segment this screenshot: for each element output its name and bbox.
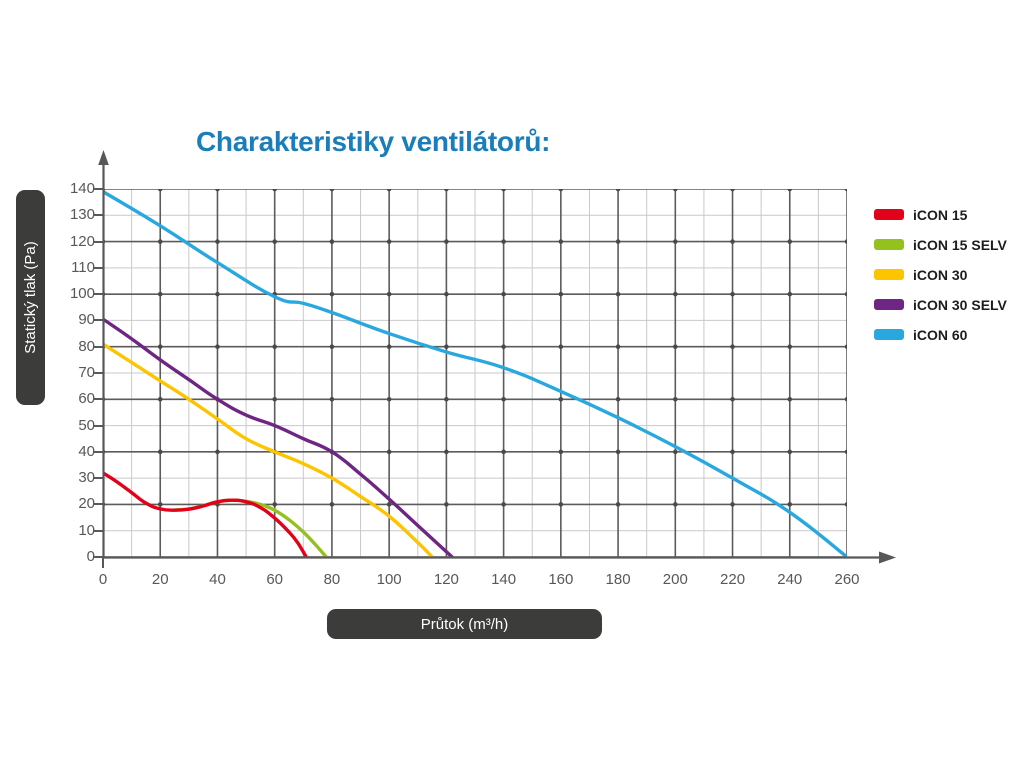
legend-item[interactable]: iCON 60 (874, 320, 1024, 349)
y-tick-mark (94, 214, 104, 216)
y-tick-label: 120 (51, 234, 95, 249)
legend: iCON 15iCON 15 SELViCON 30iCON 30 SELViC… (874, 200, 1024, 350)
y-tick-label: 60 (51, 391, 95, 406)
y-tick-label: 20 (51, 496, 95, 511)
y-tick-mark (94, 425, 104, 427)
y-tick-label: 130 (51, 207, 95, 222)
x-tick-label: 80 (307, 572, 357, 587)
x-tick-label: 240 (765, 572, 815, 587)
x-tick-label: 220 (708, 572, 758, 587)
x-tick-label: 100 (364, 572, 414, 587)
plot-area (103, 189, 847, 557)
y-tick-mark (94, 503, 104, 505)
y-tick-mark (94, 451, 104, 453)
y-tick-label: 40 (51, 444, 95, 459)
y-tick-label: 0 (51, 549, 95, 564)
x-tick-label: 20 (135, 572, 185, 587)
legend-item-label: iCON 30 SELV (913, 297, 1007, 313)
legend-item-label: iCON 15 SELV (913, 237, 1007, 253)
y-tick-label: 90 (51, 312, 95, 327)
series-line-icon-30 (103, 344, 432, 557)
y-tick-label: 100 (51, 286, 95, 301)
y-tick-mark (94, 319, 104, 321)
chart-canvas: Charakteristiky ventilátorů: Statický tl… (0, 0, 1024, 768)
legend-item[interactable]: iCON 15 (874, 200, 1024, 229)
y-tick-mark (94, 241, 104, 243)
y-tick-mark (94, 372, 104, 374)
legend-item[interactable]: iCON 15 SELV (874, 230, 1024, 259)
x-tick-label: 180 (593, 572, 643, 587)
x-tick-label: 200 (650, 572, 700, 587)
x-tick-label: 40 (192, 572, 242, 587)
y-tick-label: 70 (51, 365, 95, 380)
y-tick-mark (94, 346, 104, 348)
series-line-icon-15 (103, 473, 306, 557)
grid-and-series (103, 189, 847, 557)
x-tick-label: 140 (479, 572, 529, 587)
y-tick-mark (94, 267, 104, 269)
y-tick-mark (94, 530, 104, 532)
y-tick-label: 50 (51, 418, 95, 433)
y-tick-mark (94, 293, 104, 295)
x-axis-arrowhead (879, 552, 896, 564)
y-tick-label: 80 (51, 339, 95, 354)
x-axis-label: Průtok (m³/h) (327, 609, 602, 639)
y-tick-mark (94, 188, 104, 190)
y-axis-arrowhead (98, 150, 109, 165)
x-tick-mark (102, 557, 104, 568)
legend-item[interactable]: iCON 30 SELV (874, 290, 1024, 319)
y-tick-mark (94, 477, 104, 479)
legend-item-label: iCON 60 (913, 327, 967, 343)
page-title: Charakteristiky ventilátorů: (196, 126, 550, 158)
legend-swatch (874, 209, 904, 220)
x-tick-label: 0 (78, 572, 128, 587)
y-axis-label: Statický tlak (Pa) (16, 190, 45, 405)
legend-item[interactable]: iCON 30 (874, 260, 1024, 289)
x-tick-label: 260 (822, 572, 872, 587)
y-tick-label: 10 (51, 523, 95, 538)
x-tick-label: 160 (536, 572, 586, 587)
y-tick-label: 140 (51, 181, 95, 196)
y-tick-label: 110 (51, 260, 95, 275)
legend-swatch (874, 299, 904, 310)
x-tick-label: 60 (250, 572, 300, 587)
x-tick-label: 120 (421, 572, 471, 587)
legend-swatch (874, 269, 904, 280)
y-tick-label: 30 (51, 470, 95, 485)
legend-item-label: iCON 15 (913, 207, 967, 223)
legend-item-label: iCON 30 (913, 267, 967, 283)
legend-swatch (874, 239, 904, 250)
y-tick-mark (94, 398, 104, 400)
legend-swatch (874, 329, 904, 340)
